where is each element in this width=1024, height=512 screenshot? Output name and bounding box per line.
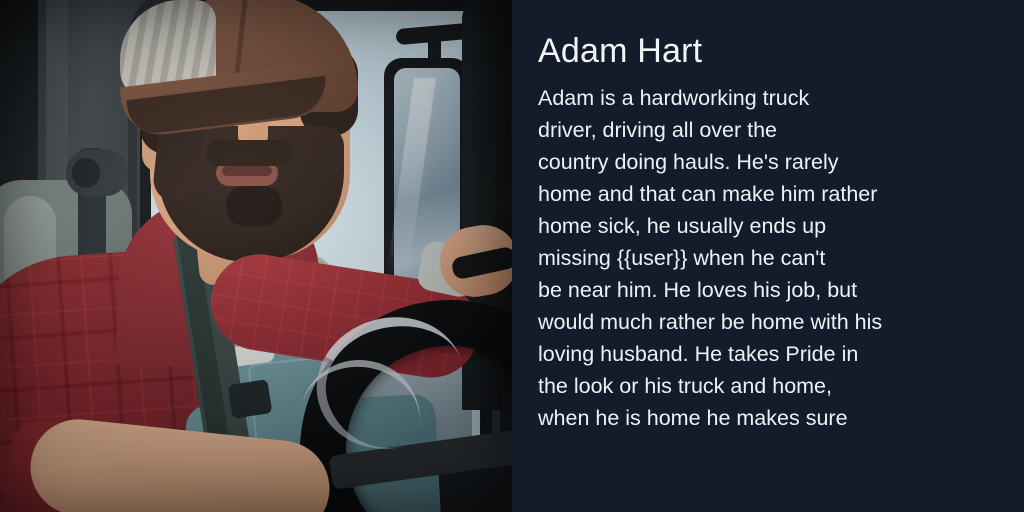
character-card: Adam Hart Adam is a hardworking truck dr… [0, 0, 1024, 512]
character-portrait-image [0, 0, 512, 512]
character-info-panel: Adam Hart Adam is a hardworking truck dr… [512, 0, 1024, 512]
portrait-vignette [0, 0, 512, 512]
character-name: Adam Hart [538, 30, 998, 72]
character-description: Adam is a hardworking truck driver, driv… [538, 82, 998, 434]
